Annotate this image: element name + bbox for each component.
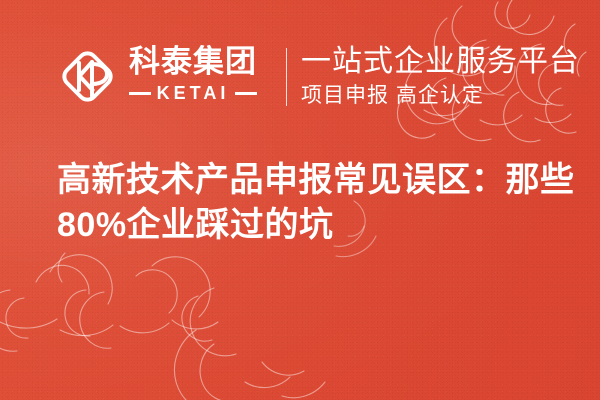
wordmark-rule-right [235,92,257,95]
slogan-primary: 一站式企业服务平台 [301,44,580,79]
ketai-diamond-monogram-icon [56,42,118,108]
banner-header: 科泰集团 KETAI 一站式企业服务平台 项目申报 高企认定 [0,0,600,150]
promo-banner: 科泰集团 KETAI 一站式企业服务平台 项目申报 高企认定 高新技术产品申报常… [0,0,600,400]
page-title-line-2: 80%企业踩过的坑 [57,203,557,248]
page-title-line-1: 高新技术产品申报常见误区：那些 [57,158,557,203]
page-title: 高新技术产品申报常见误区：那些 80%企业踩过的坑 [57,158,557,248]
header-divider [286,48,287,106]
brand-logo[interactable]: 科泰集团 KETAI [56,42,257,108]
header-slogans: 一站式企业服务平台 项目申报 高企认定 [301,44,580,109]
brand-name-en: KETAI [157,83,230,104]
brand-wordmark: 科泰集团 KETAI [129,46,257,103]
slogan-secondary: 项目申报 高企认定 [301,84,580,109]
brand-name-en-row: KETAI [129,83,257,104]
wordmark-rule-left [129,92,151,95]
brand-name-cn: 科泰集团 [129,46,257,78]
